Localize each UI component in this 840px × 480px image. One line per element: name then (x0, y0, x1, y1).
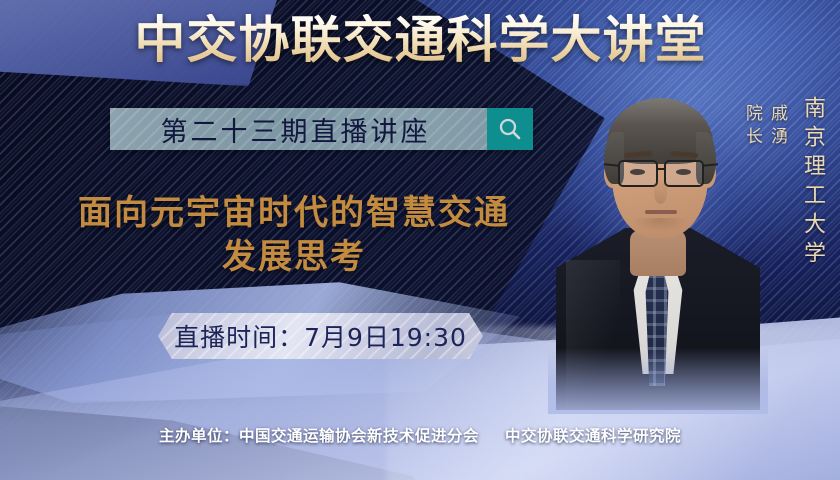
lecture-headline: 面向元宇宙时代的智慧交通 发展思考 (24, 192, 564, 279)
footer-prefix: 主办单位： (159, 427, 239, 445)
portrait-bottom-fade (548, 348, 768, 414)
page-title: 中交协联交通科学大讲堂 (134, 14, 706, 67)
portrait-glasses-left-lens (618, 160, 658, 187)
portrait-nose (654, 180, 667, 204)
main-title-container: 中交协联交通科学大讲堂 (0, 14, 840, 67)
footer-org-2: 中交协联交通科学研究院 (505, 427, 681, 445)
broadcast-time-label: 直播时间：7月9日19:30 (174, 318, 467, 354)
speaker-portrait (562, 78, 752, 408)
portrait-glasses-bridge (657, 168, 666, 170)
speaker-organization: 南京理工大学 (796, 96, 828, 270)
speaker-name-block: 戚湧 院长 (740, 104, 790, 150)
broadcast-time-badge: 直播时间：7月9日19:30 (158, 313, 483, 359)
search-icon[interactable] (487, 108, 533, 150)
headline-line-2: 发展思考 (24, 236, 564, 280)
footer-organizers: 主办单位：中国交通运输协会新技术促进分会中交协联交通科学研究院 (0, 424, 840, 446)
footer-org-1: 中国交通运输协会新技术促进分会 (239, 427, 479, 445)
speaker-role: 院长 (742, 104, 762, 150)
portrait-chin-shading (624, 218, 696, 240)
headline-line-1: 面向元宇宙时代的智慧交通 (78, 193, 510, 233)
portrait-mouth (645, 210, 677, 214)
episode-banner: 第二十三期直播讲座 (110, 108, 533, 150)
portrait-glasses-right-lens (664, 160, 704, 187)
speaker-name: 戚湧 (767, 104, 787, 150)
live-stream-poster: 中交协联交通科学大讲堂 第二十三期直播讲座 面向元宇宙时代的智慧交通 发展思考 … (0, 0, 840, 480)
episode-label: 第二十三期直播讲座 (110, 108, 487, 150)
